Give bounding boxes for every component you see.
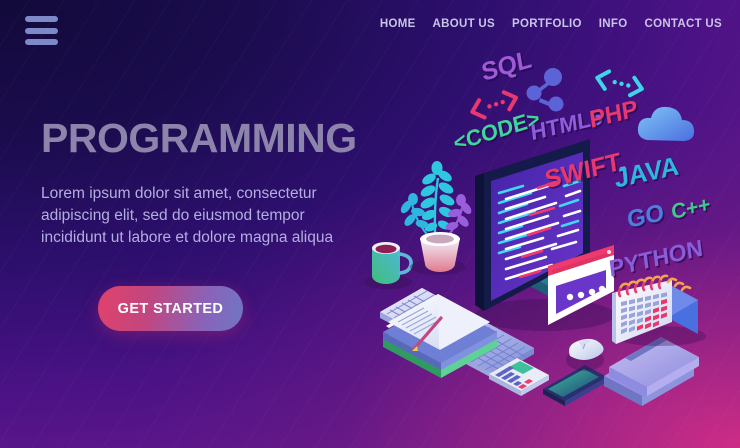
hero-text-block: PROGRAMMING Lorem ipsum dolor sit amet, …	[41, 118, 371, 249]
calendar-grid	[621, 292, 667, 334]
hero-subtitle: Lorem ipsum dolor sit amet, consectetur …	[41, 183, 371, 249]
pencil	[412, 318, 441, 351]
keyword-html5: HTML5	[529, 104, 604, 146]
main-navigation: HOME ABOUT US PORTFOLIO INFO CONTACT US	[380, 18, 722, 30]
keyword-swift: SWIFT	[543, 148, 623, 196]
password-dialog-popup	[548, 245, 614, 325]
nav-item-info[interactable]: INFO	[599, 18, 628, 30]
nav-item-portfolio[interactable]: PORTFOLIO	[512, 18, 582, 30]
keyword-code: <CODE>	[451, 105, 541, 157]
computer-mouse	[566, 339, 604, 371]
calculator	[489, 358, 549, 396]
keyword-c++: C++	[670, 193, 711, 225]
keyword-java: JAVA	[613, 150, 680, 195]
keyboard	[380, 288, 534, 378]
code-editor-screen	[499, 181, 580, 279]
potted-plant	[399, 161, 474, 275]
smartphone	[543, 365, 607, 406]
hamburger-bar	[25, 16, 58, 22]
cloud-icon	[638, 107, 694, 141]
nav-item-about-us[interactable]: ABOUT US	[433, 18, 495, 30]
share-network-icon	[527, 68, 564, 112]
keyword-sql: SQL	[479, 45, 533, 88]
landing-page: SQL<CODE>HTML5PHPSWIFTJAVAC++GOPYTHON HO…	[0, 0, 740, 448]
hamburger-bar	[25, 39, 58, 45]
desktop-monitor	[475, 139, 615, 331]
page-title: PROGRAMMING	[41, 118, 371, 159]
nav-item-contact-us[interactable]: CONTACT US	[644, 18, 722, 30]
open-notebook	[383, 294, 497, 378]
plant-leaves	[399, 161, 474, 250]
code-arrow-cyan-icon	[589, 64, 647, 107]
stacked-books	[604, 337, 699, 406]
keyword-php: PHP	[588, 95, 640, 135]
keyword-go: GO	[626, 199, 665, 235]
keyword-python: PYTHON	[608, 234, 705, 283]
code-arrow-pink-icon	[464, 85, 523, 131]
nav-item-home[interactable]: HOME	[380, 18, 416, 30]
get-started-button[interactable]: GET STARTED	[98, 286, 243, 331]
hamburger-menu-icon[interactable]	[25, 16, 58, 45]
coffee-mug	[364, 242, 412, 289]
hamburger-bar	[25, 28, 58, 34]
password-dots	[567, 286, 605, 300]
desk-calendar	[612, 166, 706, 346]
